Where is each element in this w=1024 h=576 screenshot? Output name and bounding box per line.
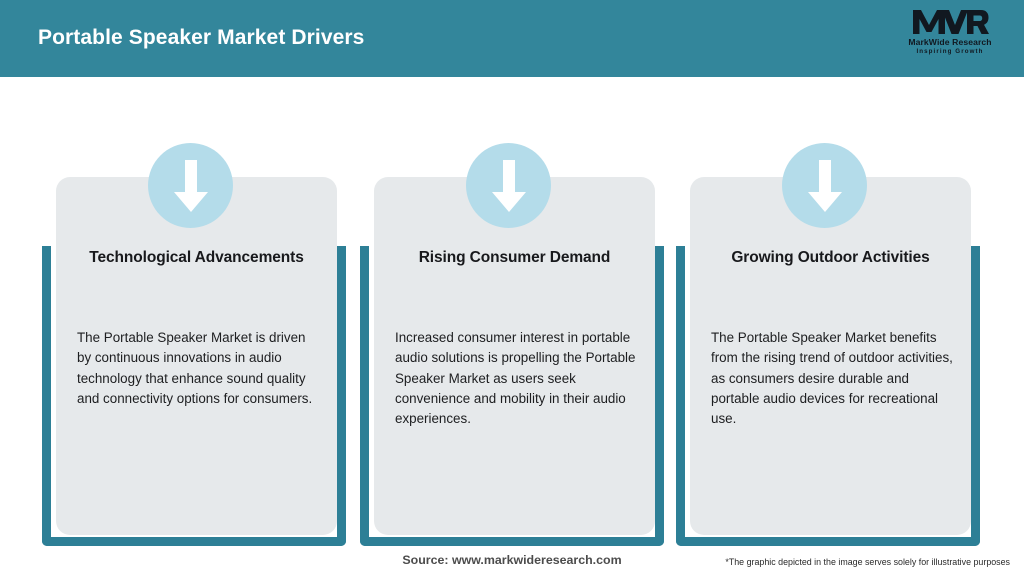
down-arrow-icon xyxy=(148,143,233,228)
disclaimer-label: *The graphic depicted in the image serve… xyxy=(725,557,1010,567)
down-arrow-icon xyxy=(782,143,867,228)
driver-card-2: Rising Consumer Demand Increased consume… xyxy=(360,143,664,546)
card-body-text: The Portable Speaker Market is driven by… xyxy=(77,328,323,409)
drivers-card-group: Technological Advancements The Portable … xyxy=(0,0,1024,576)
card-title: Rising Consumer Demand xyxy=(374,249,655,267)
card-title: Growing Outdoor Activities xyxy=(690,249,971,267)
driver-card-1: Technological Advancements The Portable … xyxy=(42,143,346,546)
card-title: Technological Advancements xyxy=(56,249,337,267)
driver-card-3: Growing Outdoor Activities The Portable … xyxy=(676,143,980,546)
down-arrow-icon xyxy=(466,143,551,228)
card-body-text: Increased consumer interest in portable … xyxy=(395,328,641,429)
card-body-text: The Portable Speaker Market benefits fro… xyxy=(711,328,957,429)
